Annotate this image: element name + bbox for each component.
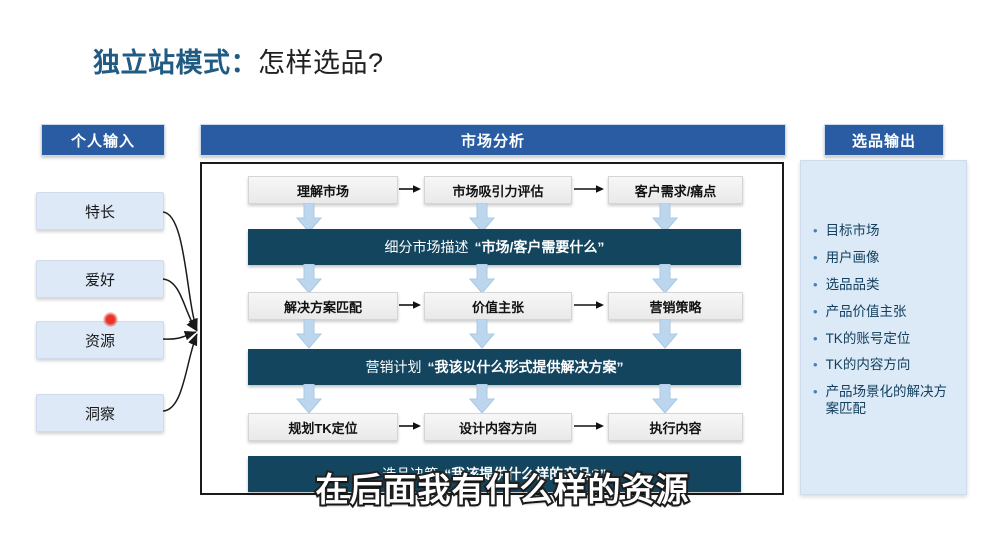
down-arrow-col-c-4: [650, 384, 680, 414]
banner2-lead: 营销计划: [366, 357, 422, 377]
output-list-item: • TK的账号定位: [807, 331, 960, 348]
down-arrow-col-c-2: [650, 264, 680, 294]
output-list-item: • 产品价值主张: [807, 304, 960, 321]
input-box-hobby[interactable]: 爱好: [36, 260, 164, 298]
input-box-strength[interactable]: 特长: [36, 192, 164, 230]
output-label: TK的内容方向: [826, 357, 911, 374]
output-label: 产品价值主张: [826, 304, 907, 321]
arrow-row1-b-to-c: [574, 184, 606, 194]
down-arrow-col-a-2: [294, 264, 324, 294]
arrow-row3-a-to-b: [399, 421, 423, 431]
output-list-item: • 选品品类: [807, 277, 960, 294]
step-marketing-strategy[interactable]: 营销策略: [608, 292, 743, 320]
step-market-attractiveness[interactable]: 市场吸引力评估: [424, 176, 572, 204]
bullet-icon: •: [813, 384, 818, 400]
step-plan-tk-position[interactable]: 规划TK定位: [248, 413, 398, 441]
input-box-insight[interactable]: 洞察: [36, 394, 164, 432]
down-arrow-col-b-3: [467, 319, 497, 349]
page-title-highlight: 独立站模式：: [93, 48, 258, 78]
down-arrow-col-b-4: [467, 384, 497, 414]
arrow-row2-a-to-b: [399, 300, 423, 310]
output-label: 选品品类: [826, 277, 880, 294]
bullet-icon: •: [813, 223, 818, 239]
arrow-row1-a-to-b: [399, 184, 423, 194]
output-list-item: • 用户画像: [807, 250, 960, 267]
banner2-quote: “我该以什么形式提供解决方案”: [428, 357, 624, 377]
arrow-row3-b-to-c: [574, 421, 606, 431]
step-execute-content[interactable]: 执行内容: [608, 413, 743, 441]
output-list-item: • 产品场景化的解决方案匹配: [807, 384, 960, 418]
step-solution-match[interactable]: 解决方案匹配: [248, 292, 398, 320]
banner1-lead: 细分市场描述: [385, 237, 469, 257]
arrow-row2-b-to-c: [574, 300, 606, 310]
bullet-icon: •: [813, 304, 818, 320]
column-header-personal-input: 个人输入: [41, 124, 165, 156]
banner-segment-description: 细分市场描述“市场/客户需要什么”: [248, 229, 741, 265]
down-arrow-col-c-3: [650, 319, 680, 349]
product-output-panel: • 目标市场 • 用户画像 • 选品品类 • 产品价值主张 • TK的账号定位 …: [800, 160, 967, 495]
output-list-item: • TK的内容方向: [807, 357, 960, 374]
input-box-resource[interactable]: 资源: [36, 321, 164, 359]
bullet-icon: •: [813, 277, 818, 293]
cursor-click-indicator: [103, 312, 118, 327]
bullet-icon: •: [813, 357, 818, 373]
output-label: 目标市场: [826, 223, 880, 240]
step-customer-needs[interactable]: 客户需求/痛点: [608, 176, 743, 204]
column-header-market-analysis: 市场分析: [200, 124, 786, 156]
output-label: 产品场景化的解决方案匹配: [826, 384, 960, 418]
step-understand-market[interactable]: 理解市场: [248, 176, 398, 204]
slide-root: 独立站模式：怎样选品? 个人输入 市场分析 选品输出 特长 爱好 资源 洞察 理…: [0, 0, 1005, 556]
page-title: 独立站模式：怎样选品?: [93, 41, 384, 80]
column-header-product-output: 选品输出: [824, 124, 944, 156]
banner-marketing-plan: 营销计划“我该以什么形式提供解决方案”: [248, 349, 741, 385]
down-arrow-col-b-2: [467, 264, 497, 294]
down-arrow-col-a-4: [294, 384, 324, 414]
bullet-icon: •: [813, 331, 818, 347]
output-label: 用户画像: [826, 250, 880, 267]
down-arrow-col-a-3: [294, 319, 324, 349]
step-design-content-direction[interactable]: 设计内容方向: [424, 413, 572, 441]
page-title-rest: 怎样选品?: [258, 48, 384, 78]
output-list-item: • 目标市场: [807, 223, 960, 240]
output-label: TK的账号定位: [826, 331, 911, 348]
bullet-icon: •: [813, 250, 818, 266]
step-value-proposition[interactable]: 价值主张: [424, 292, 572, 320]
banner1-quote: “市场/客户需要什么”: [475, 237, 605, 257]
subtitle-caption: 在后面我有什么样的资源: [0, 463, 1005, 511]
